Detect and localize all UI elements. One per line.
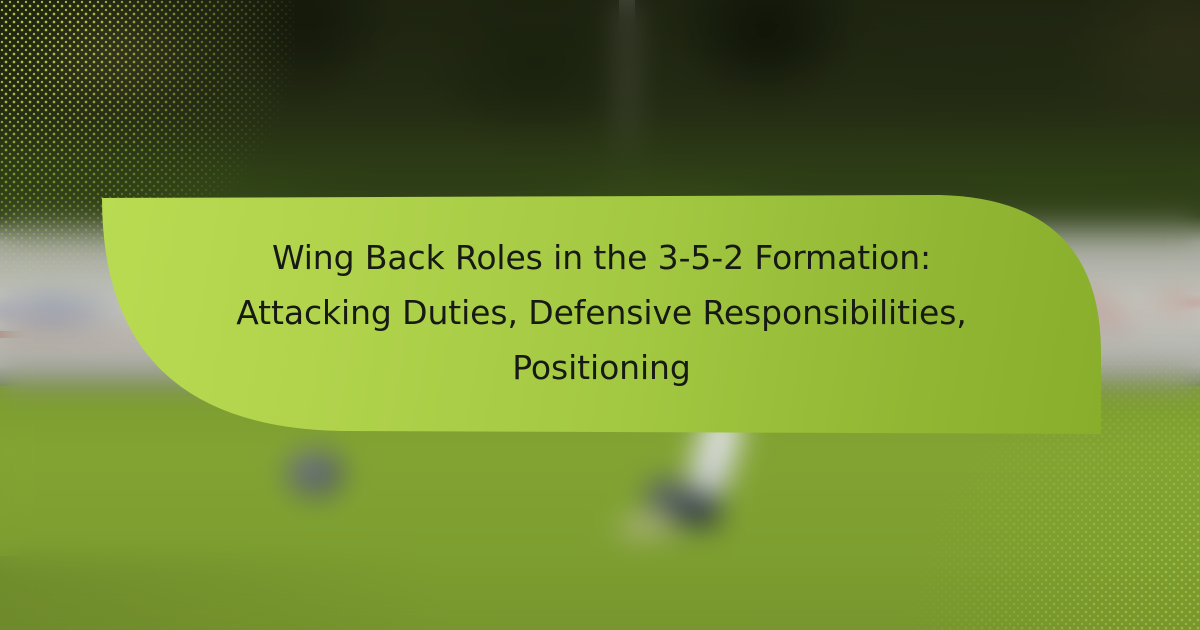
title-banner: Wing Back Roles in the 3-5-2 Formation: … xyxy=(102,195,1101,434)
share-card-canvas: Wing Back Roles in the 3-5-2 Formation: … xyxy=(0,0,1200,630)
page-title: Wing Back Roles in the 3-5-2 Formation: … xyxy=(207,230,997,395)
title-banner-inner: Wing Back Roles in the 3-5-2 Formation: … xyxy=(207,230,997,399)
